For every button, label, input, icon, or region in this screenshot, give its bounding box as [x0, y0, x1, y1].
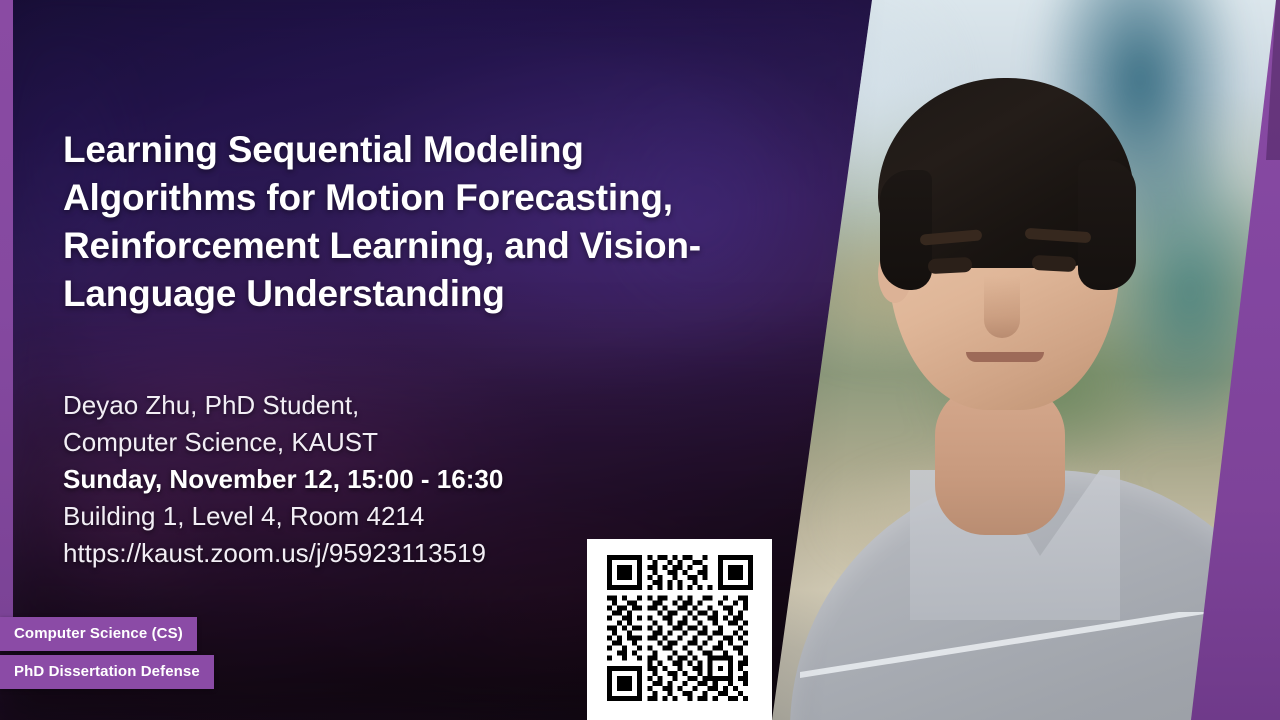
detail-datetime: Sunday, November 12, 15:00 - 16:30: [63, 461, 723, 498]
status-badge-department: Computer Science (CS): [0, 617, 197, 651]
detail-location: Building 1, Level 4, Room 4214: [63, 498, 723, 535]
page-title: Learning Sequential Modeling Algorithms …: [63, 126, 723, 318]
left-accent-stripe: [0, 0, 13, 618]
detail-affiliation: Computer Science, KAUST: [63, 424, 723, 461]
tag-badge-list: Computer Science (CS) PhD Dissertation D…: [0, 617, 214, 689]
detail-speaker-name: Deyao Zhu, PhD Student,: [63, 387, 723, 424]
status-badge-event-type: PhD Dissertation Defense: [0, 655, 214, 689]
qr-code-panel: [587, 539, 772, 720]
qr-code[interactable]: [607, 555, 753, 701]
event-poster: Learning Sequential Modeling Algorithms …: [0, 0, 1280, 720]
